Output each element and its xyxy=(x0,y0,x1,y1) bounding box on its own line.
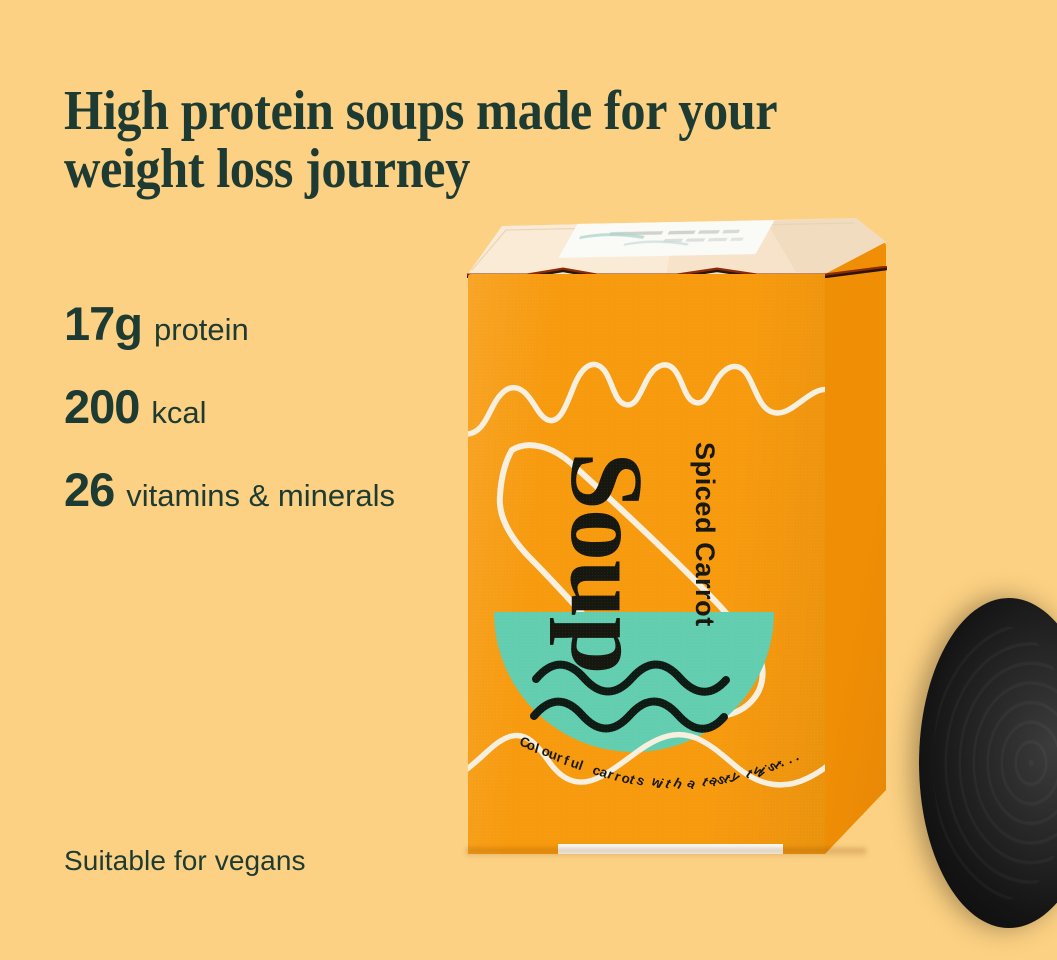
stat-value-kcal: 200 xyxy=(64,383,139,430)
stat-label-vitamins: vitamins & minerals xyxy=(126,480,395,511)
page-title: High protein soups made for your weight … xyxy=(64,82,784,198)
product-box: Spiced Carrot Soup Colourful carrots wit… xyxy=(466,218,888,858)
vegan-suitability-note: Suitable for vegans xyxy=(64,845,306,877)
box-front-panel: Spiced Carrot Soup Colourful carrots wit… xyxy=(468,274,825,854)
dark-decor-object xyxy=(919,598,1057,928)
stat-value-protein: 17g xyxy=(64,300,142,347)
stat-row-vitamins: 26 vitamins & minerals xyxy=(64,466,484,513)
stat-row-kcal: 200 kcal xyxy=(64,383,484,430)
stat-label-protein: protein xyxy=(154,314,249,345)
box-contact-shadow xyxy=(466,848,866,858)
stat-label-kcal: kcal xyxy=(151,397,206,428)
box-flavour-text: Spiced Carrot xyxy=(689,442,720,627)
stat-row-protein: 17g protein xyxy=(64,300,484,347)
box-side-panel xyxy=(825,242,886,854)
product-ad-canvas: High protein soups made for your weight … xyxy=(0,0,1057,960)
box-tagline: Colourful carrots with a tasty twist... xyxy=(468,729,825,799)
nutrition-stats-list: 17g protein 200 kcal 26 vitamins & miner… xyxy=(64,300,484,549)
box-top-label-text-lines xyxy=(558,220,774,258)
box-product-word: Soup xyxy=(559,452,653,674)
stat-value-vitamins: 26 xyxy=(64,466,114,513)
box-top-label xyxy=(558,220,774,258)
